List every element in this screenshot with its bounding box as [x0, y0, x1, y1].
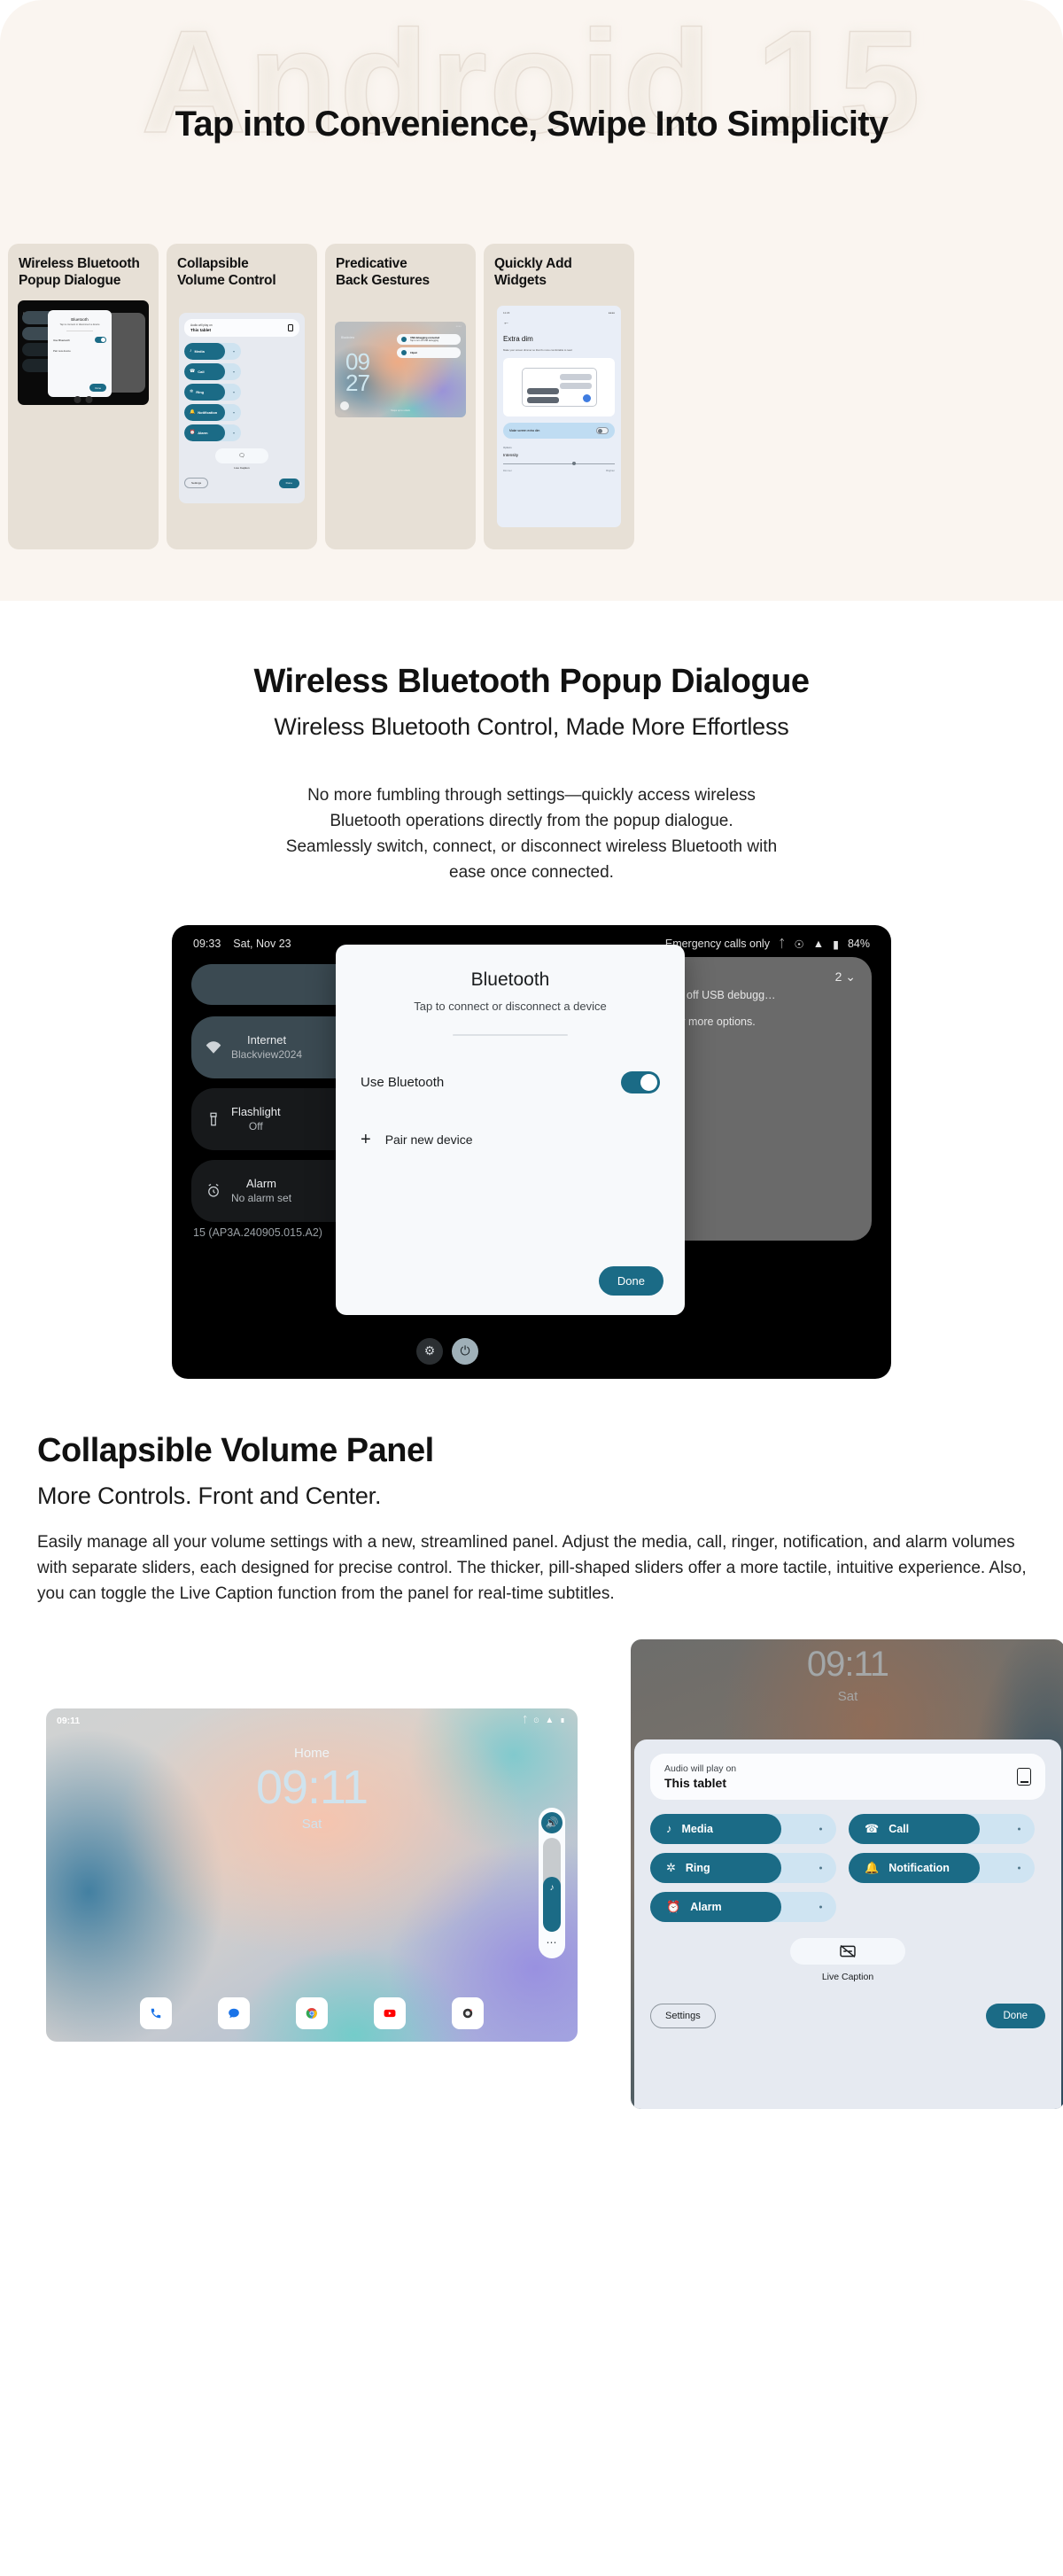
notification-icon [401, 337, 407, 342]
volume-slider-notification[interactable]: 🔔Notification [849, 1853, 1035, 1883]
brightness-slider[interactable] [191, 964, 360, 1005]
speaker-icon[interactable]: 🔊 [541, 1812, 563, 1833]
section-volume: Collapsible Volume Panel More Controls. … [0, 1379, 1063, 2180]
feature-card-title: Quickly Add Widgets [494, 256, 624, 290]
thumb-device-name: Blackview [341, 336, 354, 339]
qs-tile-alarm[interactable]: Alarm No alarm set › [191, 1160, 360, 1222]
back-arrow-icon: ← [503, 320, 615, 326]
feature-card-title: Wireless Bluetooth Popup Dialogue [19, 256, 148, 290]
audio-output-label: Audio will play on [664, 1763, 736, 1774]
thumb-switch [95, 337, 106, 343]
thumb-extra-dim-toggle: Make screen extra dim [503, 423, 615, 439]
quick-settings-column: Internet Blackview2024 › Flashlight Off [191, 964, 360, 1232]
thumb-notification: USB debugging connected Tap to turn off … [397, 334, 461, 345]
section-subheading: More Controls. Front and Center. [37, 1483, 1026, 1510]
thumb-done-button: Done [89, 384, 106, 392]
volume-panel-footer: Settings Done [650, 2004, 1045, 2028]
dock-app-camera[interactable] [452, 1997, 484, 2029]
done-button[interactable]: Done [599, 1266, 663, 1296]
volume-slider-call[interactable]: ☎Call [849, 1814, 1035, 1844]
dialog-divider [453, 1034, 568, 1036]
thumb-slider-grid: ♪Media ☎Call ✲Ring 🔔Notification ⏰Alarm [184, 343, 299, 441]
thumb-slider: 🔔Notification [184, 404, 241, 421]
tablet-bluetooth-screen: 09:33 Sat, Nov 23 Emergency calls only ᛏ… [172, 925, 891, 1379]
done-button[interactable]: Done [986, 2004, 1046, 2028]
flashlight-icon [206, 1111, 221, 1127]
feature-card-widgets[interactable]: Quickly Add Widgets 11:23 ●●●● ← Extra d… [484, 244, 634, 549]
thumb-toggle-row: Use Bluetooth [48, 337, 112, 343]
feature-card-title: Predicative Back Gestures [336, 256, 465, 290]
messages-icon [228, 2007, 240, 2020]
chrome-icon [306, 2007, 318, 2020]
feature-card-row: Wireless Bluetooth Popup Dialogue 09:33 … [8, 244, 634, 549]
thumb-notification: Clipsit [397, 347, 461, 358]
lockscreen-thumbnail: •••• Blackview 09 27 USB debugging conne… [335, 322, 466, 417]
thumb-statusbar: •••• [456, 324, 462, 328]
feature-card-volume[interactable]: Collapsible Volume Control Audio will pl… [167, 244, 317, 549]
slider-endpoints: Dimmer Brighter [503, 469, 615, 472]
dock-app-messages[interactable] [218, 1997, 250, 2029]
bluetooth-dialog: Bluetooth Tap to connect or disconnect a… [336, 945, 685, 1315]
notification-count[interactable]: 2 ⌄ [835, 969, 856, 984]
thumb-statusbar: 09:33 Sat, Nov 23 [23, 303, 144, 307]
live-caption-label: Live Caption [650, 1972, 1045, 1982]
audio-output-device: This tablet [664, 1776, 736, 1790]
feature-card-back-gestures[interactable]: Predicative Back Gestures •••• Blackview… [325, 244, 476, 549]
statusbar-time: 09:11 [57, 1716, 80, 1726]
use-bluetooth-row[interactable]: Use Bluetooth [336, 1071, 685, 1093]
thumb-bluetooth-dialog: Bluetooth Tap to connect or disconnect a… [48, 310, 112, 397]
music-note-icon: ♪ [543, 1883, 561, 1893]
alarm-icon [206, 1183, 221, 1199]
live-caption-button[interactable] [790, 1938, 905, 1965]
statusbar-icons: ᛏ ☉ ▲ ▮ [523, 1716, 567, 1725]
volume-panel: Audio will play on This tablet ♪Media ☎C… [634, 1739, 1061, 2109]
thumb-statusbar: 11:23 ●●●● [503, 311, 615, 315]
dock-app-chrome[interactable] [296, 1997, 328, 2029]
use-bluetooth-label: Use Bluetooth [361, 1075, 444, 1090]
dialog-subtitle: Tap to connect or disconnect a device [336, 1000, 685, 1013]
caption-off-icon [839, 1944, 857, 1958]
qs-tile-flashlight[interactable]: Flashlight Off [191, 1088, 360, 1150]
volume-track[interactable]: ♪ [543, 1838, 561, 1932]
tablet-icon [1017, 1768, 1031, 1786]
section-body: No more fumbling through settings—quickl… [195, 783, 868, 886]
bluetooth-dialog-thumbnail: 09:33 Sat, Nov 23 Bluetooth Tap to conne… [18, 300, 149, 405]
youtube-icon [384, 2007, 396, 2020]
bluetooth-screenshot-wrapper: 09:33 Sat, Nov 23 Emergency calls only ᛏ… [172, 925, 891, 1379]
extra-dim-thumbnail: 11:23 ●●●● ← Extra dim Make your screen … [497, 306, 621, 527]
volume-slider-grid: ♪Media ☎Call ✲Ring 🔔Notification [650, 1814, 1045, 1922]
phone-icon [150, 2007, 162, 2020]
battery-icon: ▮ [833, 938, 839, 951]
volume-slider-ring[interactable]: ✲Ring [650, 1853, 836, 1883]
thumb-slider: ✲Ring [184, 384, 241, 401]
bluetooth-toggle-switch[interactable] [621, 1071, 660, 1093]
pair-new-device-label: Pair new device [385, 1132, 473, 1147]
section-heading: Wireless Bluetooth Popup Dialogue [0, 601, 1063, 701]
section-heading: Collapsible Volume Panel [37, 1432, 1026, 1470]
thumb-divider [66, 331, 93, 331]
section-bluetooth: Wireless Bluetooth Popup Dialogue Wirele… [0, 601, 1063, 1379]
thumb-live-caption-button: 🗨 [215, 448, 268, 463]
feature-card-title: Collapsible Volume Control [177, 256, 306, 290]
power-icon[interactable]: ⏻ [452, 1338, 478, 1365]
dock-app-phone[interactable] [140, 1997, 172, 2029]
thumb-navbar [74, 396, 93, 403]
wifi-icon: ▲ [813, 938, 824, 950]
volume-slider-overlay[interactable]: 🔊 ♪ ⋯ [539, 1808, 565, 1958]
app-dock [46, 1997, 578, 2029]
section-subheading: Wireless Bluetooth Control, Made More Ef… [0, 713, 1063, 741]
thumb-slider: ♪Media [184, 343, 241, 360]
settings-gear-icon[interactable]: ⚙ [416, 1338, 443, 1365]
pair-new-device-row[interactable]: + Pair new device [336, 1131, 685, 1148]
clock-widget-time: 09:11 [46, 1763, 578, 1811]
build-number: 15 (AP3A.240905.015.A2) ·· [193, 1226, 347, 1239]
feature-card-bluetooth[interactable]: Wireless Bluetooth Popup Dialogue 09:33 … [8, 244, 159, 549]
phone-icon: ☎ [865, 1823, 879, 1834]
section-body: Easily manage all your volume settings w… [37, 1529, 1029, 1607]
settings-button[interactable]: Settings [650, 2004, 716, 2028]
intensity-slider [503, 463, 615, 464]
page-title: Tap into Convenience, Swipe Into Simplic… [0, 105, 1063, 144]
tablet-home-screen: 09:11 ᛏ ☉ ▲ ▮ Home 09:11 Sat 🔊 ♪ ⋯ [46, 1708, 578, 2042]
audio-output-row[interactable]: Audio will play on This tablet [650, 1754, 1045, 1800]
bluetooth-icon: ᛏ [779, 938, 786, 950]
tablet-volume-panel-screen: 09:11 Sat Audio will play on This tablet… [631, 1639, 1063, 2109]
dock-app-youtube[interactable] [374, 1997, 406, 2029]
slider-thumb-dot [819, 1905, 822, 1908]
alarm-icon: ⏰ [666, 1901, 680, 1912]
volume-screenshots: 09:11 ᛏ ☉ ▲ ▮ Home 09:11 Sat 🔊 ♪ ⋯ [37, 1639, 1026, 2180]
slider-thumb-dot [1018, 1866, 1020, 1869]
home-label: Home [46, 1746, 578, 1761]
thumb-audio-output: Audio will play on This tablet [184, 319, 299, 337]
slider-thumb-dot [1018, 1827, 1020, 1830]
volume-panel-thumbnail: Audio will play on This tablet ♪Media ☎C… [179, 313, 305, 503]
background-clock-time: 09:11 [631, 1645, 1063, 1685]
ring-vibrate-icon: ✲ [666, 1862, 676, 1873]
dialog-title: Bluetooth [336, 969, 685, 991]
thumb-illustration [503, 358, 615, 416]
plus-icon: + [361, 1131, 371, 1148]
thumb-clock: 09 27 [345, 352, 369, 394]
notification-icon [401, 350, 407, 355]
navigation-bar: ⚙ ⏻ [416, 1338, 478, 1365]
toggle-switch [596, 427, 609, 434]
clock-widget-day: Sat [46, 1817, 578, 1832]
tablet-icon [288, 324, 293, 331]
wifi-icon [206, 1039, 221, 1055]
thumb-notifications: USB debugging connected Tap to turn off … [397, 334, 461, 361]
slider-thumb-dot [819, 1827, 822, 1830]
hero-banner: Android 15 Android 15 Tap into Convenien… [0, 0, 1063, 601]
volume-slider-media[interactable]: ♪Media [650, 1814, 836, 1844]
camera-icon [462, 2007, 474, 2020]
qs-tile-internet[interactable]: Internet Blackview2024 › [191, 1016, 360, 1078]
slider-thumb-dot [819, 1866, 822, 1869]
thumb-slider: ☎Call [184, 363, 241, 380]
more-options-icon[interactable]: ⋯ [547, 1937, 558, 1948]
volume-slider-alarm[interactable]: ⏰Alarm [650, 1892, 836, 1922]
dnd-icon: ☉ [794, 938, 803, 951]
bell-icon: 🔔 [865, 1862, 879, 1873]
thumb-slider: ⏰Alarm [184, 424, 241, 441]
music-note-icon: ♪ [666, 1823, 672, 1834]
background-clock-day: Sat [631, 1689, 1063, 1704]
thumb-footer: Settings Done [184, 478, 299, 488]
